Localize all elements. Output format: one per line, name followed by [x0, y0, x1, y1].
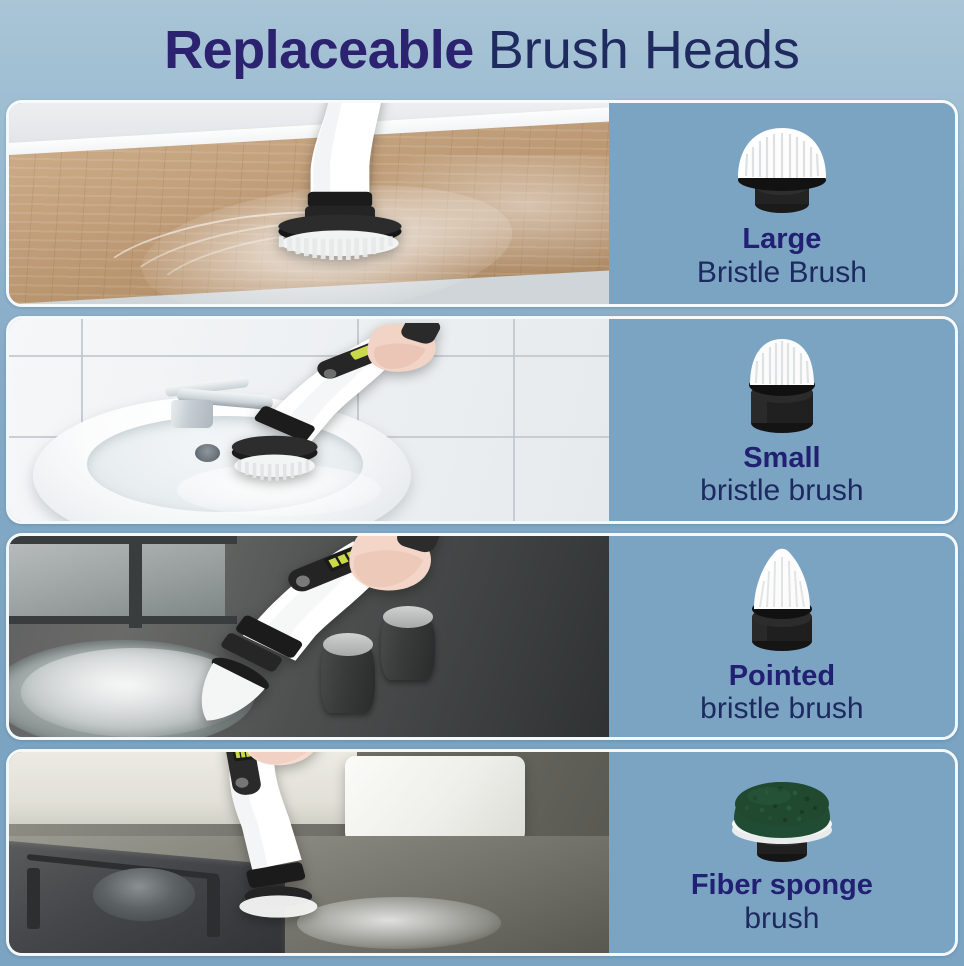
small-bristle-brush-head-icon — [722, 331, 842, 439]
brush-label-subtitle: bristle brush — [700, 692, 863, 725]
fiber-sponge-brush-head-icon — [707, 768, 857, 866]
spin-scrubber-device — [249, 103, 417, 304]
window-frame — [129, 536, 142, 629]
brush-label-subtitle: brush — [744, 902, 819, 935]
label-pane-large: Large Bristle Brush — [609, 103, 955, 304]
power-button-icon — [324, 369, 337, 378]
photo-gas-stove — [9, 752, 609, 953]
large-bristle-brush-head-icon — [712, 116, 852, 220]
page-title-bold: Replaceable — [164, 23, 474, 77]
brush-head-row-pointed: Pointed bristle brush — [6, 533, 958, 740]
label-pane-fiber-sponge: Fiber sponge brush — [609, 752, 955, 953]
brush-label-subtitle: bristle brush — [700, 474, 863, 507]
label-pane-small: Small bristle brush — [609, 319, 955, 520]
brush-label-title: Pointed — [729, 661, 835, 692]
spin-scrubber-device — [165, 536, 441, 737]
stove-grate — [27, 868, 40, 928]
brush-head-row-fiber-sponge: Fiber sponge brush — [6, 749, 958, 956]
brush-head-row-large: Large Bristle Brush — [6, 100, 958, 307]
photo-bathroom-sink — [9, 319, 609, 520]
brush-head-list: Large Bristle Brush — [6, 100, 958, 956]
page-title-regular: Brush Heads — [488, 23, 800, 77]
spin-scrubber-device — [189, 323, 441, 520]
brush-head-row-small: Small bristle brush — [6, 316, 958, 523]
brush-label-title: Small — [743, 443, 820, 474]
large-brush-bristles-photo — [281, 230, 399, 260]
label-pane-pointed: Pointed bristle brush — [609, 536, 955, 737]
brush-label-title: Fiber sponge — [691, 870, 873, 901]
power-button-icon — [235, 777, 248, 787]
photo-dark-cooktop — [9, 536, 609, 737]
white-appliance — [345, 756, 525, 849]
page-title: Replaceable Brush Heads — [0, 0, 964, 100]
brush-label-title: Large — [742, 224, 821, 255]
photo-wood-floor — [9, 103, 609, 304]
power-button-icon — [296, 576, 310, 588]
spin-scrubber-device — [177, 752, 333, 953]
brush-label-subtitle: Bristle Brush — [697, 256, 867, 289]
tile-grout-line — [513, 319, 515, 520]
pointed-bristle-brush-head-icon — [720, 545, 844, 657]
